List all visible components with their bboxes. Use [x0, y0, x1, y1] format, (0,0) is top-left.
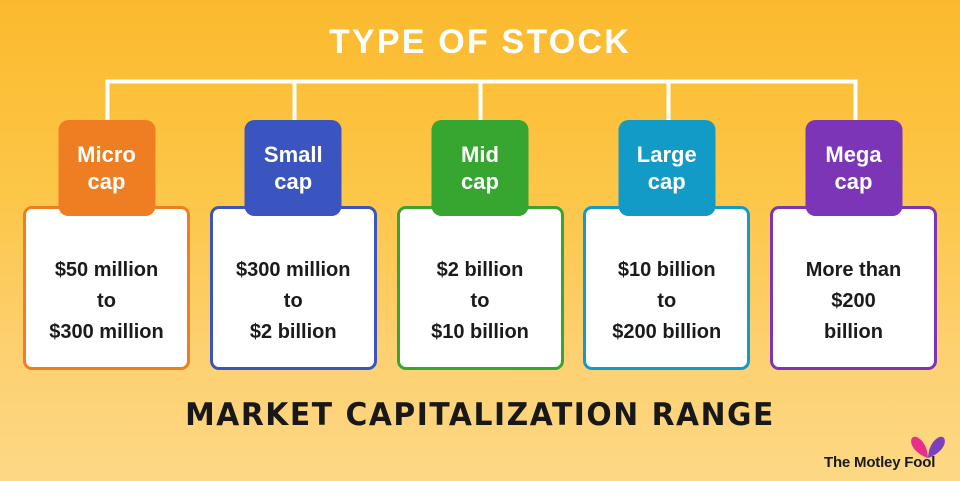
- market-cap-range-text: More than $200 billion: [773, 209, 934, 367]
- badge-line-1: Small: [264, 141, 323, 168]
- range-line-2: to: [657, 286, 676, 317]
- stock-type-badge-large-cap[interactable]: Large cap: [618, 120, 715, 216]
- connector-lines: [108, 82, 856, 121]
- badge-line-2: cap: [648, 168, 686, 195]
- range-line-2: to: [284, 286, 303, 317]
- badge-line-1: Mid: [461, 141, 499, 168]
- range-line-3: billion: [824, 317, 883, 348]
- stock-type-badge-mid-cap[interactable]: Mid cap: [432, 120, 529, 216]
- stock-type-columns: $50 million to $300 million Micro cap $3…: [23, 120, 937, 370]
- range-line-1: More than: [806, 255, 902, 286]
- range-line-1: $10 billion: [618, 255, 716, 286]
- badge-line-1: Large: [637, 141, 697, 168]
- range-line-1: $2 billion: [437, 255, 524, 286]
- market-cap-range-card: $300 million to $2 billion: [210, 206, 377, 370]
- stock-type-badge-small-cap[interactable]: Small cap: [245, 120, 342, 216]
- motley-fool-logo[interactable]: The Motley Fool: [824, 435, 950, 473]
- logo-wordmark: The Motley Fool: [824, 454, 935, 471]
- stock-type-column-small-cap[interactable]: $300 million to $2 billion Small cap: [210, 120, 377, 370]
- range-line-1: $50 million: [55, 255, 158, 286]
- stock-type-column-micro-cap[interactable]: $50 million to $300 million Micro cap: [23, 120, 190, 370]
- badge-line-2: cap: [88, 168, 126, 195]
- range-line-3: $2 billion: [250, 317, 337, 348]
- badge-line-2: cap: [274, 168, 312, 195]
- badge-line-2: cap: [835, 168, 873, 195]
- market-cap-range-text: $50 million to $300 million: [26, 209, 187, 367]
- footer-title: MARKET CAPITALIZATION RANGE: [19, 396, 941, 434]
- range-line-3: $200 billion: [612, 317, 721, 348]
- range-line-2: $200: [831, 286, 876, 317]
- stock-type-badge-micro-cap[interactable]: Micro cap: [58, 120, 155, 216]
- market-cap-range-text: $10 billion to $200 billion: [586, 209, 747, 367]
- range-line-1: $300 million: [236, 255, 351, 286]
- market-cap-range-card: $10 billion to $200 billion: [583, 206, 750, 370]
- market-cap-range-text: $300 million to $2 billion: [213, 209, 374, 367]
- stock-type-column-large-cap[interactable]: $10 billion to $200 billion Large cap: [583, 120, 750, 370]
- range-line-3: $300 million: [49, 317, 164, 348]
- stock-type-badge-mega-cap[interactable]: Mega cap: [805, 120, 902, 216]
- page-title: TYPE OF STOCK: [0, 22, 960, 62]
- market-cap-range-card: More than $200 billion: [770, 206, 937, 370]
- badge-line-2: cap: [461, 168, 499, 195]
- badge-line-1: Mega: [825, 141, 881, 168]
- stock-type-column-mid-cap[interactable]: $2 billion to $10 billion Mid cap: [397, 120, 564, 370]
- badge-line-1: Micro: [77, 141, 136, 168]
- market-cap-range-text: $2 billion to $10 billion: [400, 209, 561, 367]
- range-line-2: to: [97, 286, 116, 317]
- stock-type-column-mega-cap[interactable]: More than $200 billion Mega cap: [770, 120, 937, 370]
- market-cap-range-card: $2 billion to $10 billion: [397, 206, 564, 370]
- range-line-3: $10 billion: [431, 317, 529, 348]
- market-cap-range-card: $50 million to $300 million: [23, 206, 190, 370]
- range-line-2: to: [471, 286, 490, 317]
